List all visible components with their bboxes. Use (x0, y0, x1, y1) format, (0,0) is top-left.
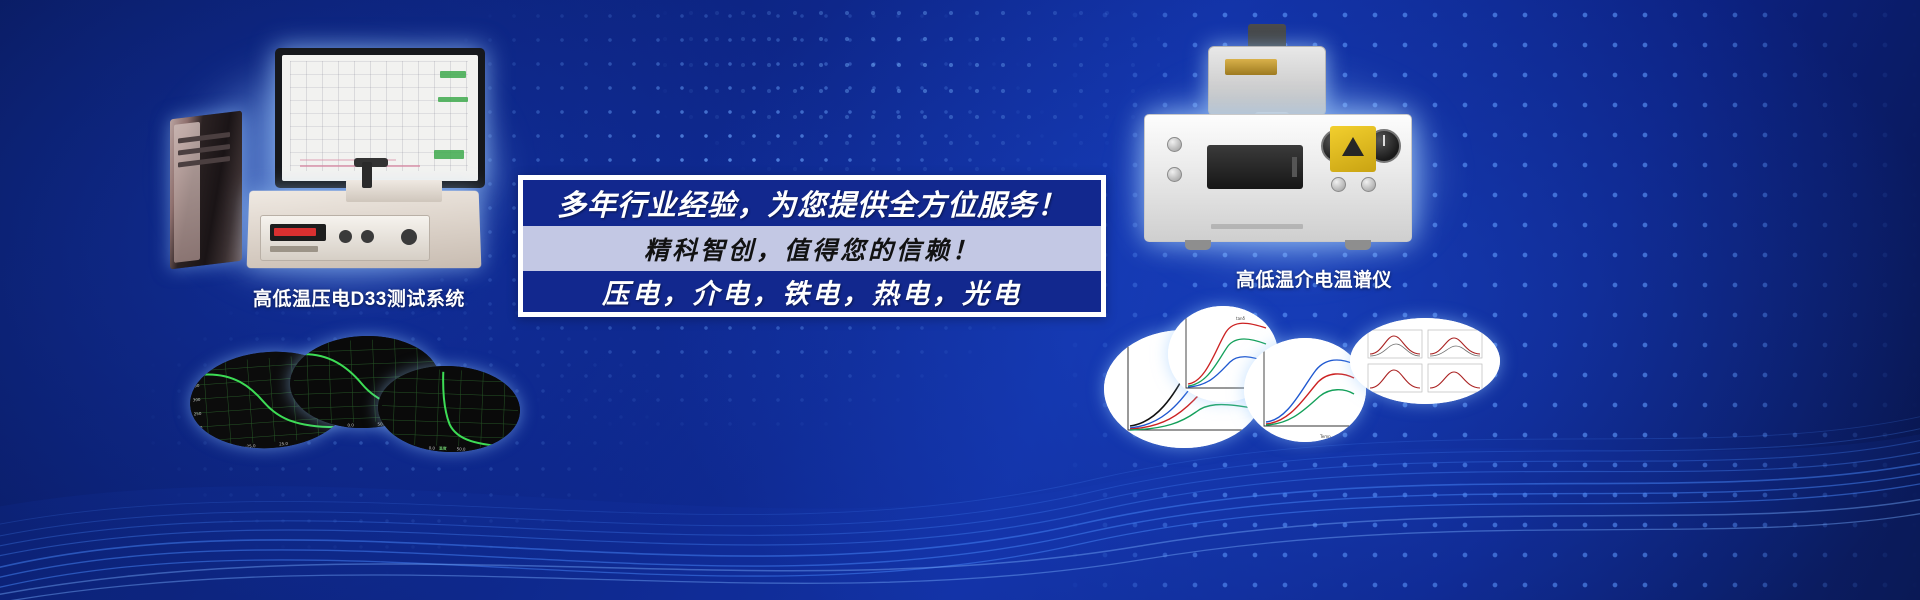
svg-text:ε: ε (1114, 341, 1117, 346)
svg-text:350: 350 (192, 383, 200, 389)
product-left-photo (150, 30, 530, 300)
svg-text:300: 300 (193, 397, 201, 403)
svg-text:tanδ: tanδ (1236, 316, 1246, 321)
computer-tower-icon (170, 111, 242, 270)
svg-text:400: 400 (191, 369, 199, 375)
headline-primary: 多年行业经验，为您提供全方位服务！ (523, 180, 1101, 226)
control-box-label (270, 246, 318, 252)
headline-secondary: 精科智创，值得您的信赖！ (523, 226, 1101, 271)
svg-text:75.0: 75.0 (313, 438, 323, 444)
promo-banner: 高低温压电D33测试系统 400350300 250200150 -75.0-2… (0, 0, 1920, 600)
test-stage (346, 180, 442, 202)
product-right-photo (1130, 18, 1460, 280)
svg-text:T (°C): T (°C) (1231, 436, 1245, 442)
lcd-monitor-icon (275, 48, 485, 188)
temperature-spectrum-chart: Temp (1244, 338, 1366, 442)
product-right-caption: 高低温介电温谱仪 (1236, 265, 1392, 292)
svg-text:200: 200 (195, 425, 203, 431)
svg-text:50.0: 50.0 (457, 446, 467, 451)
svg-text:-75.0: -75.0 (213, 445, 224, 451)
bnc-port (1331, 177, 1346, 192)
warning-label (1330, 126, 1376, 172)
svg-text:250: 250 (194, 411, 202, 417)
display-panel (1207, 145, 1303, 189)
digital-readout (270, 224, 326, 241)
instrument-foot (1185, 240, 1211, 250)
gold-module (1225, 59, 1277, 75)
svg-text:25.0: 25.0 (279, 441, 289, 447)
dot-pattern-upper (600, 0, 1160, 200)
svg-text:150: 150 (196, 439, 204, 445)
control-box (260, 215, 430, 261)
product-left-caption: 高低温压电D33测试系统 (253, 284, 465, 311)
svg-text:0.0: 0.0 (429, 445, 436, 450)
message-panel: 多年行业经验，为您提供全方位服务！ 精科智创，值得您的信赖！ 压电，介电，铁电，… (518, 175, 1106, 317)
svg-text:100.0: 100.0 (485, 447, 497, 452)
bnc-port (1361, 177, 1376, 192)
probe-arm (362, 162, 372, 188)
svg-text:-50.0: -50.0 (395, 444, 406, 449)
instrument-nameplate (1211, 224, 1303, 229)
instrument-foot (1345, 240, 1371, 250)
bnc-port (1167, 167, 1182, 182)
svg-text:0.0: 0.0 (347, 422, 354, 427)
svg-text:温度: 温度 (439, 445, 447, 451)
power-knob (401, 229, 417, 245)
control-knob (361, 230, 374, 243)
multi-panel-peaks-chart (1350, 318, 1500, 404)
laser-head-icon (1208, 46, 1326, 116)
control-knob (339, 230, 352, 243)
warning-triangle-icon (1342, 137, 1364, 156)
svg-text:-25.0: -25.0 (245, 443, 256, 449)
strain-curve-chart: -50.00.050.0100.0 温度 (377, 364, 522, 455)
headline-keywords: 压电，介电，铁电，热电，光电 (523, 271, 1101, 312)
bnc-port (1167, 137, 1182, 152)
svg-text:Temp: Temp (1319, 434, 1331, 439)
